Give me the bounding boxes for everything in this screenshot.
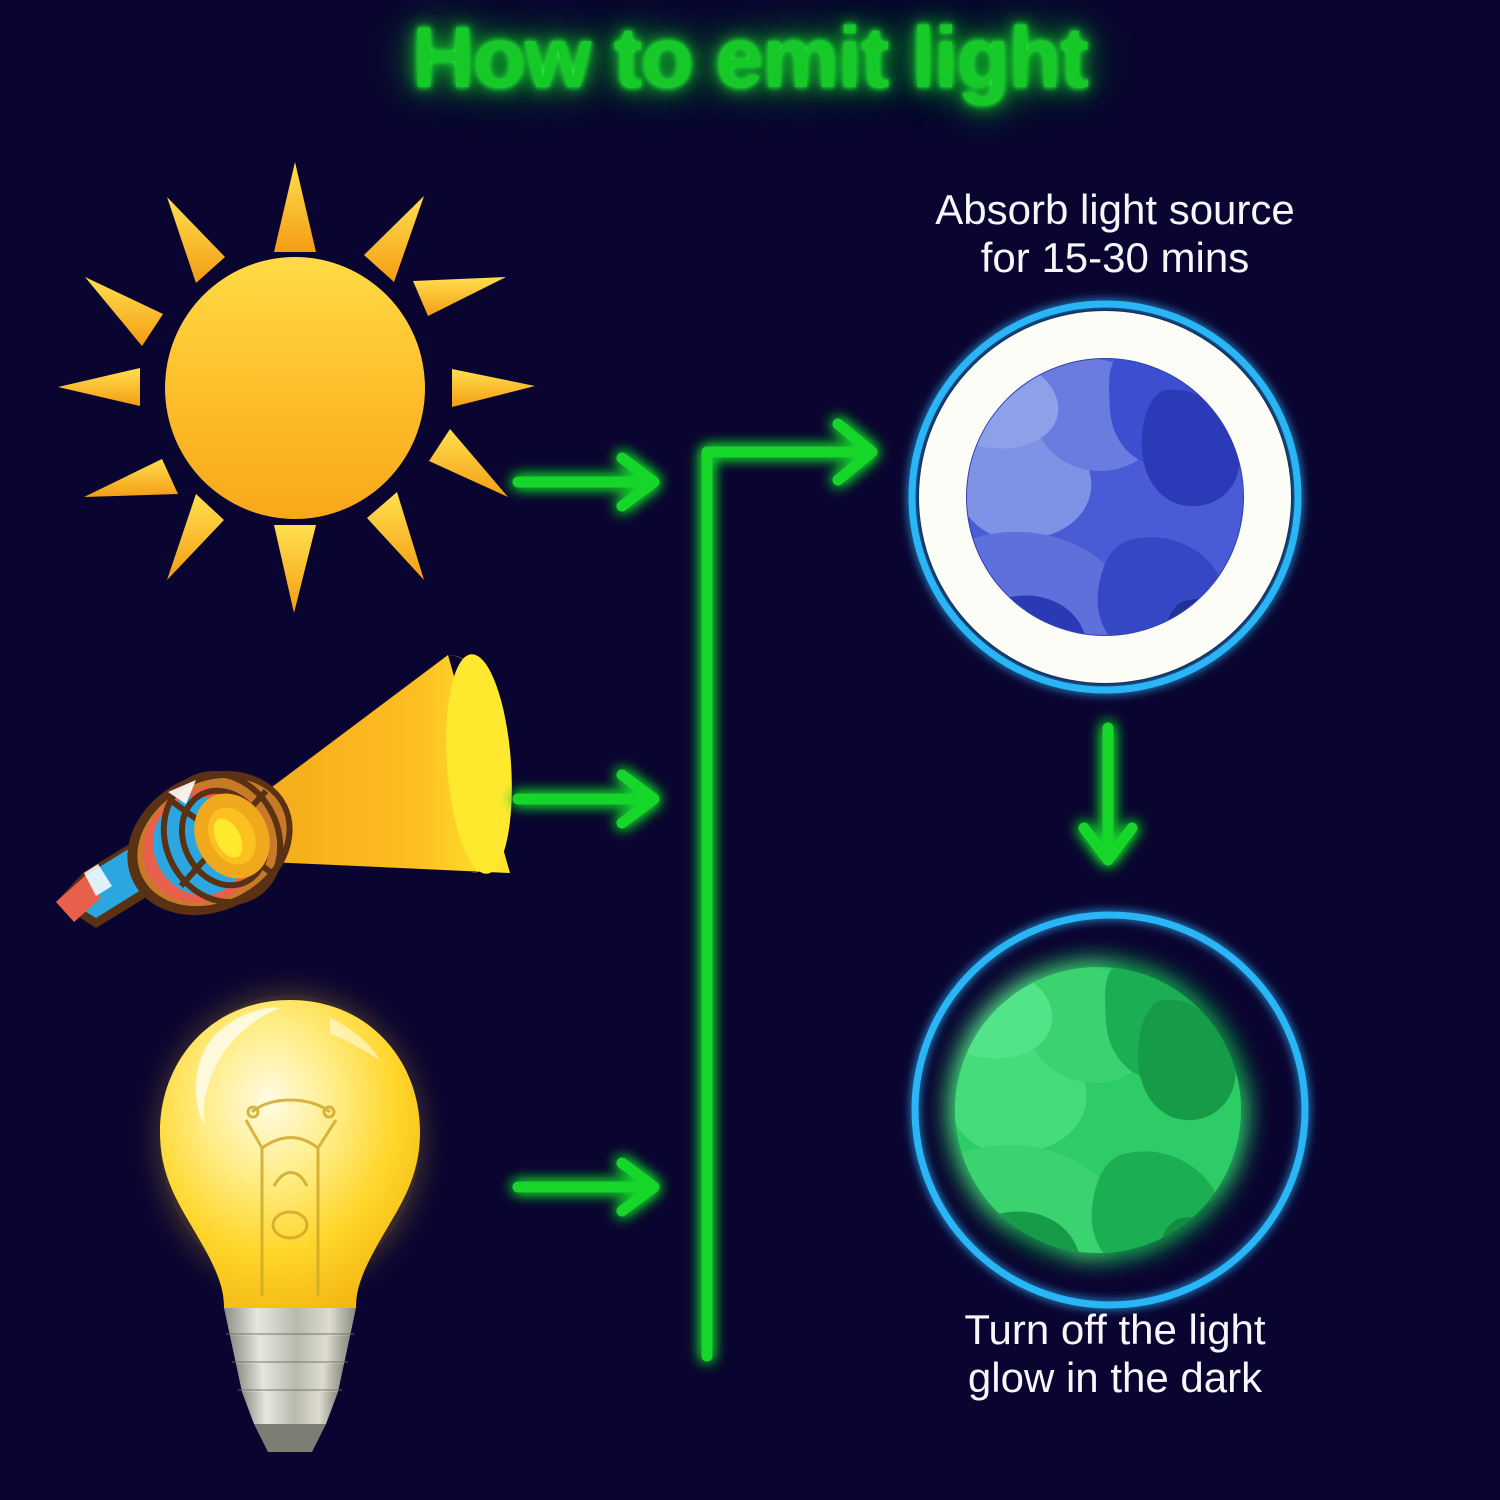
absorb-caption-line1: Absorb light source (790, 186, 1440, 234)
glow-caption-line2: glow in the dark (790, 1354, 1440, 1402)
infographic-canvas: How to emit light (0, 0, 1500, 1500)
arrow-bulb-to-trunk (518, 1163, 654, 1211)
arrow-flashlight-to-trunk (518, 775, 654, 823)
arrow-trunk-to-ball (707, 424, 872, 1356)
absorb-caption: Absorb light source for 15-30 mins (790, 186, 1440, 282)
glow-caption: Turn off the light glow in the dark (790, 1306, 1440, 1402)
glow-caption-line1: Turn off the light (790, 1306, 1440, 1354)
arrow-ball-to-glow (1084, 728, 1132, 860)
glowing-ball (915, 915, 1305, 1315)
charged-ball (912, 304, 1298, 766)
arrow-sun-to-trunk (518, 458, 654, 506)
flow-arrows (518, 424, 1132, 1356)
sun-icon (58, 162, 535, 613)
absorb-caption-line2: for 15-30 mins (790, 234, 1440, 282)
flashlight-icon (56, 652, 519, 943)
page-title: How to emit light (0, 8, 1500, 108)
lightbulb-icon (160, 995, 420, 1452)
